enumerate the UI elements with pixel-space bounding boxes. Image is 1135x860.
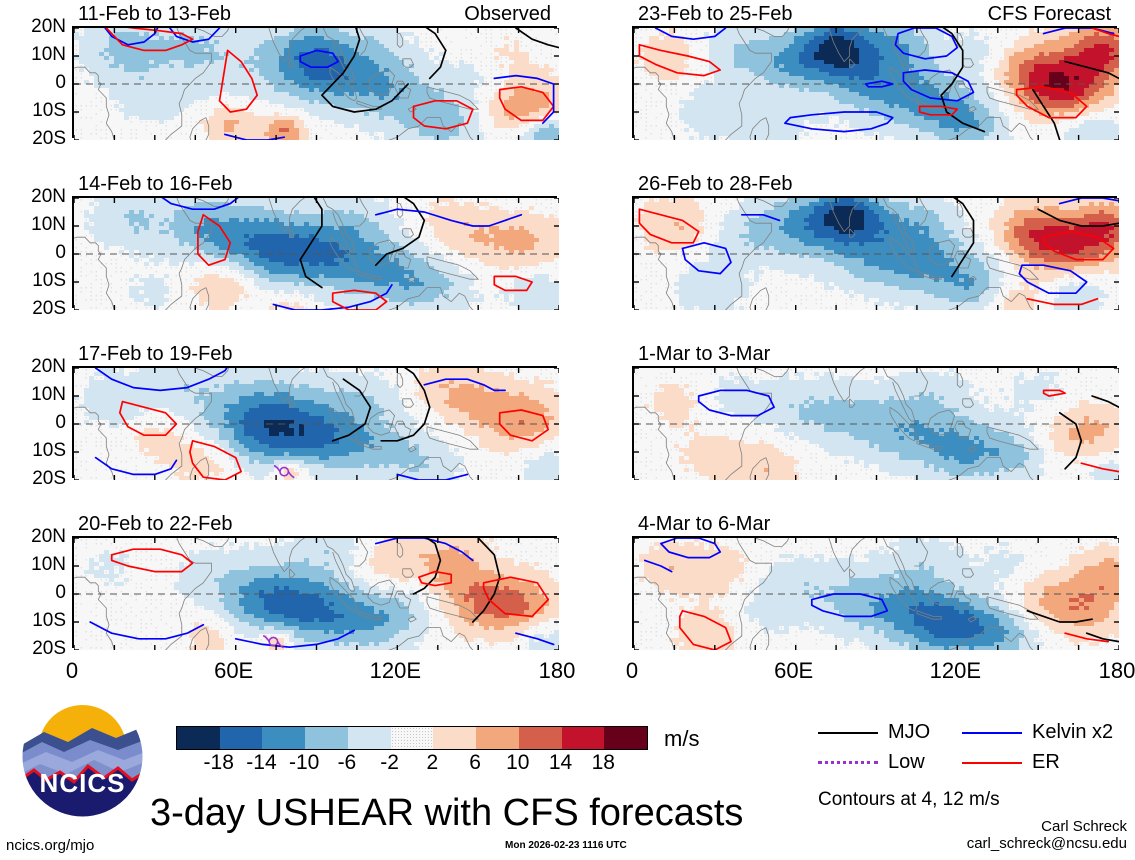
y-axis-label: 10S xyxy=(0,611,66,630)
legend-item: Kelvin x2 xyxy=(962,722,1113,742)
colorbar-units-label: m/s xyxy=(664,726,699,752)
site-url: ncics.org/mjo xyxy=(6,838,94,853)
y-axis-label: 10S xyxy=(0,441,66,460)
x-axis-label: 180 xyxy=(539,660,576,682)
x-axis-label: 0 xyxy=(626,660,638,682)
colorbar xyxy=(176,726,648,750)
colorbar-swatch xyxy=(519,727,562,749)
colorbar-swatch xyxy=(348,727,391,749)
generation-timestamp: Mon 2026-02-23 1116 UTC xyxy=(505,841,627,851)
legend-item: Low xyxy=(818,752,925,772)
legend-line-swatch xyxy=(962,732,1022,734)
x-axis-label: 120E xyxy=(930,660,981,682)
figure-title: 3-day USHEAR with CFS forecasts xyxy=(150,794,743,832)
legend-label: MJO xyxy=(888,721,930,743)
map-panel xyxy=(632,366,1117,478)
x-axis-label: 60E xyxy=(214,660,253,682)
legend-item: ER xyxy=(962,752,1060,772)
legend-item: MJO xyxy=(818,722,930,742)
y-axis-label: 10N xyxy=(0,45,66,64)
contour-note: Contours at 4, 12 m/s xyxy=(818,790,1000,809)
legend-label: ER xyxy=(1032,751,1060,773)
map-panel xyxy=(72,366,557,478)
y-axis-label: 10N xyxy=(0,385,66,404)
map-panel xyxy=(72,26,557,138)
y-axis-label: 20N xyxy=(0,17,66,36)
y-axis-label: 0 xyxy=(0,243,66,262)
x-axis-label: 60E xyxy=(774,660,813,682)
panel-title: 14-Feb to 16-Feb xyxy=(78,174,233,194)
panel-title: 1-Mar to 3-Mar xyxy=(638,344,770,364)
author-block: Carl Schreck carl_schreck@ncsu.edu xyxy=(967,818,1127,852)
y-axis-label: 0 xyxy=(0,73,66,92)
y-axis-label: 10N xyxy=(0,555,66,574)
colorbar-swatch xyxy=(562,727,605,749)
colorbar-swatch xyxy=(433,727,476,749)
column-header: CFS Forecast xyxy=(988,4,1111,24)
legend-label: Low xyxy=(888,751,925,773)
panel-title: 20-Feb to 22-Feb xyxy=(78,514,233,534)
x-axis-label: 0 xyxy=(66,660,78,682)
y-axis-label: 10S xyxy=(0,101,66,120)
legend-label: Kelvin x2 xyxy=(1032,721,1113,743)
y-axis-label: 0 xyxy=(0,413,66,432)
map-panel xyxy=(632,26,1117,138)
y-axis-label: 10S xyxy=(0,271,66,290)
y-axis-label: 0 xyxy=(0,583,66,602)
y-axis-label: 20S xyxy=(0,129,66,148)
panel-title: 4-Mar to 6-Mar xyxy=(638,514,770,534)
map-panel xyxy=(72,536,557,648)
colorbar-swatch xyxy=(476,727,519,749)
column-header: Observed xyxy=(464,4,551,24)
colorbar-swatch xyxy=(262,727,305,749)
colorbar-swatch xyxy=(220,727,263,749)
panel-title: 23-Feb to 25-Feb xyxy=(638,4,793,24)
y-axis-label: 20S xyxy=(0,299,66,318)
panel-title: 17-Feb to 19-Feb xyxy=(78,344,233,364)
y-axis-label: 20N xyxy=(0,527,66,546)
map-panel xyxy=(632,196,1117,308)
y-axis-label: 20S xyxy=(0,469,66,488)
colorbar-tick-label: 18 xyxy=(575,752,631,773)
panel-title: 11-Feb to 13-Feb xyxy=(78,4,231,24)
y-axis-label: 20N xyxy=(0,187,66,206)
y-axis-label: 20N xyxy=(0,357,66,376)
colorbar-swatch xyxy=(177,727,220,749)
panel-title: 26-Feb to 28-Feb xyxy=(638,174,793,194)
colorbar-swatch xyxy=(604,727,647,749)
map-panel xyxy=(72,196,557,308)
colorbar-swatch xyxy=(305,727,348,749)
y-axis-label: 20S xyxy=(0,639,66,658)
author-email: carl_schreck@ncsu.edu xyxy=(967,835,1127,852)
x-axis-label: 120E xyxy=(370,660,421,682)
x-axis-label: 180 xyxy=(1099,660,1135,682)
legend-line-swatch xyxy=(818,761,878,764)
legend-line-swatch xyxy=(818,732,878,734)
y-axis-label: 10N xyxy=(0,215,66,234)
author-name: Carl Schreck xyxy=(967,818,1127,835)
ncics-logo-text: NCICS xyxy=(20,694,145,819)
map-panel xyxy=(632,536,1117,648)
legend-line-swatch xyxy=(962,762,1022,764)
colorbar-swatch xyxy=(391,727,434,749)
